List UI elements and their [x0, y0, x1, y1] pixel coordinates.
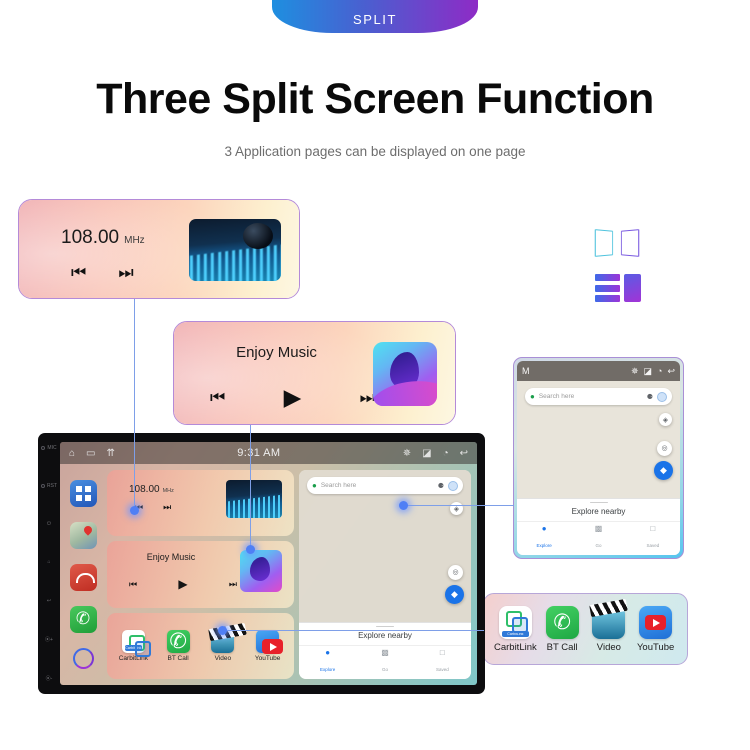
- hu-map-navigate-button[interactable]: ◆: [445, 585, 464, 604]
- head-unit-bezel: MIC RST ⏻ ⌂ ↩ ⦿+ ⦿-: [38, 433, 60, 694]
- youtube-icon: [256, 630, 279, 653]
- explore-nearby-label[interactable]: Explore nearby: [517, 503, 680, 521]
- hu-music-prev-icon[interactable]: ⏮: [129, 579, 137, 590]
- hu-radio-controls: ⏮ ⏭: [135, 502, 171, 513]
- hu-music-play-icon[interactable]: ▶: [178, 577, 187, 591]
- hu-map-nav-saved[interactable]: □ Saved: [414, 648, 471, 676]
- bezel-volume-down-button[interactable]: ⦿-: [46, 675, 53, 682]
- bezel-mic: MIC: [41, 445, 56, 451]
- music-card[interactable]: Enjoy Music ⏮ ▶ ⏭: [173, 321, 456, 425]
- status-time: 9:31 AM: [237, 447, 280, 459]
- split-tab[interactable]: SPLIT: [272, 0, 478, 33]
- app-youtube[interactable]: YouTube: [634, 606, 678, 653]
- location-pin-icon: ●: [312, 481, 317, 490]
- recents-icon[interactable]: ▭: [86, 448, 95, 459]
- split-layout-panel: [624, 274, 641, 302]
- microphone-icon[interactable]: ⚈: [438, 482, 444, 490]
- avatar[interactable]: [448, 481, 458, 491]
- bluetooth-icon: ✵: [403, 448, 411, 459]
- hu-app-youtube-label: YouTube: [251, 655, 285, 662]
- wifi-icon: ◔: [443, 448, 449, 459]
- explore-icon: ●: [517, 524, 571, 534]
- dock-maps-icon[interactable]: [70, 522, 97, 549]
- hu-map-nav-go[interactable]: ▩ Go: [356, 648, 413, 676]
- page-subtitle: 3 Application pages can be displayed on …: [0, 144, 750, 159]
- map-nav-explore[interactable]: ● Explore: [517, 524, 571, 552]
- map-search-placeholder: Search here: [539, 393, 643, 400]
- map-status-bar: M ✵ ◪ ◔ ↩: [517, 361, 680, 381]
- hu-map-search-bar[interactable]: ● Search here ⚈: [307, 477, 463, 494]
- music-title: Enjoy Music: [174, 344, 379, 361]
- map-nav-go[interactable]: ▩ Go: [571, 524, 625, 552]
- map-bottom-sheet: Explore nearby ● Explore ▩ Go □ Saved: [517, 498, 680, 556]
- phone-icon: [546, 606, 579, 639]
- app-bt-call[interactable]: BT Call: [540, 606, 584, 653]
- hu-map-layers-button[interactable]: ◈: [450, 502, 463, 515]
- head-unit-device: MIC RST ⏻ ⌂ ↩ ⦿+ ⦿- ⌂ ▭ ⇈ 9:31 AM ✵ ◪ ◔ …: [38, 433, 485, 694]
- location-pin-icon: ●: [530, 392, 535, 401]
- bezel-volume-up-button[interactable]: ⦿+: [45, 636, 53, 643]
- radio-card[interactable]: 108.00MHz ⏮ ⏭: [18, 199, 300, 299]
- up-chevron-icon[interactable]: ⇈: [107, 448, 115, 459]
- map-status-left-text: M: [522, 366, 626, 376]
- bezel-power-button[interactable]: ⏻: [47, 521, 51, 527]
- hu-music-card[interactable]: Enjoy Music ⏮ ▶ ⏭: [107, 541, 294, 607]
- youtube-icon: [639, 606, 672, 639]
- radio-frequency: 108.00MHz: [61, 227, 145, 249]
- apps-card[interactable]: CarbitLink CarbitLink BT Call Video YouT…: [483, 593, 688, 665]
- connector-apps: [222, 630, 484, 631]
- radio-frequency-value: 108.00: [61, 227, 119, 248]
- app-youtube-label: YouTube: [634, 642, 678, 653]
- saved-icon: □: [626, 524, 680, 534]
- dock-phone-icon[interactable]: [70, 606, 97, 633]
- map-search-bar[interactable]: ● Search here ⚈: [525, 388, 672, 405]
- connector-node-radio: [130, 506, 139, 515]
- cast-icon: ◪: [422, 448, 431, 459]
- connector-node-map: [399, 501, 408, 510]
- hu-app-bt-call[interactable]: BT Call: [161, 630, 195, 662]
- back-icon[interactable]: ↩: [667, 366, 675, 377]
- dual-pane-left: [595, 229, 613, 257]
- dock-ring-icon[interactable]: [73, 648, 94, 669]
- head-unit-body: 108.00MHz ⏮ ⏭ Enjoy Music ⏮ ▶ ⏭: [60, 464, 477, 685]
- avatar[interactable]: [657, 392, 667, 402]
- explore-icon: ●: [299, 648, 356, 658]
- bluetooth-icon: ✵: [631, 366, 639, 377]
- hu-app-video-label: Video: [206, 655, 240, 662]
- carbitlink-icon: CarbitLink: [499, 606, 532, 639]
- hu-music-controls: ⏮ ▶ ⏭: [129, 577, 237, 591]
- app-carbitlink[interactable]: CarbitLink CarbitLink: [493, 606, 537, 653]
- hu-map-panel[interactable]: ● Search here ⚈ ◈ ◎ ◆ Explore nearby ●: [299, 470, 471, 679]
- hu-app-bt-call-label: BT Call: [161, 655, 195, 662]
- radio-album-art: [189, 219, 281, 281]
- connector-music: [250, 425, 251, 549]
- bezel-rst[interactable]: RST: [41, 483, 57, 489]
- music-album-art: [373, 342, 437, 406]
- dock-apps-grid-icon[interactable]: [70, 480, 97, 507]
- map-canvas[interactable]: ● Search here ⚈ ◈ ◎ ◆: [517, 381, 680, 498]
- connector-map: [404, 505, 514, 506]
- music-play-icon[interactable]: ▶: [284, 384, 302, 411]
- hu-app-youtube[interactable]: YouTube: [251, 630, 285, 662]
- app-video-label: Video: [587, 642, 631, 653]
- head-unit-dock: [64, 470, 102, 679]
- hu-app-carbitlink[interactable]: CarbitLink CarbitLink: [116, 630, 150, 662]
- map-nav-explore-label: Explore: [537, 543, 552, 548]
- back-icon[interactable]: ↩: [460, 448, 468, 459]
- hu-map-nav-saved-label: Saved: [436, 667, 449, 672]
- connector-radio: [134, 299, 135, 510]
- dual-pane-right: [621, 229, 639, 257]
- go-icon: ▩: [571, 524, 625, 534]
- map-layers-button[interactable]: ◈: [659, 413, 672, 426]
- music-controls: ⏮ ▶ ⏭: [210, 384, 375, 411]
- map-nav-saved-label: Saved: [646, 543, 659, 548]
- cast-icon: ◪: [644, 366, 653, 377]
- saved-icon: □: [414, 648, 471, 658]
- app-bt-call-label: BT Call: [540, 642, 584, 653]
- head-unit-status-bar: ⌂ ▭ ⇈ 9:31 AM ✵ ◪ ◔ ↩: [60, 442, 477, 464]
- page-title: Three Split Screen Function: [0, 75, 750, 124]
- map-bottom-nav: ● Explore ▩ Go □ Saved: [517, 521, 680, 555]
- home-icon[interactable]: ⌂: [69, 448, 75, 459]
- video-icon: [592, 606, 625, 639]
- map-nav-go-label: Go: [595, 543, 601, 548]
- radio-next-icon[interactable]: ⏭: [118, 263, 133, 283]
- hu-map-canvas[interactable]: ● Search here ⚈ ◈ ◎ ◆: [299, 470, 471, 622]
- map-navigate-button[interactable]: ◆: [654, 461, 673, 480]
- go-icon: ▩: [356, 648, 413, 658]
- hu-apps-card[interactable]: CarbitLink CarbitLink BT Call Video YouT…: [107, 613, 294, 679]
- hu-map-bottom-nav: ● Explore ▩ Go □ Saved: [299, 645, 471, 679]
- hu-music-album-art: [240, 550, 282, 592]
- carbitlink-icon: CarbitLink: [122, 630, 145, 653]
- map-locate-button[interactable]: ◎: [657, 441, 672, 456]
- app-video[interactable]: Video: [587, 606, 631, 653]
- wifi-icon: ◔: [657, 366, 662, 376]
- connector-node-music: [246, 545, 255, 554]
- phone-icon: [167, 630, 190, 653]
- split-layout-bars: [595, 274, 620, 302]
- microphone-icon[interactable]: ⚈: [647, 393, 653, 401]
- map-card[interactable]: M ✵ ◪ ◔ ↩ ● Search here ⚈ ◈ ◎ ◆ Explore …: [513, 357, 684, 559]
- split-tab-label: SPLIT: [353, 12, 397, 33]
- music-prev-icon[interactable]: ⏮: [210, 388, 225, 408]
- hu-radio-frequency: 108.00MHz: [129, 484, 174, 495]
- dock-music-icon[interactable]: [70, 564, 97, 591]
- hu-map-locate-button[interactable]: ◎: [448, 565, 463, 580]
- hu-radio-album-art: [226, 480, 282, 518]
- hu-map-nav-go-label: Go: [382, 667, 388, 672]
- hu-map-nav-explore[interactable]: ● Explore: [299, 648, 356, 676]
- hu-map-nav-explore-label: Explore: [320, 667, 335, 672]
- hu-music-title: Enjoy Music: [107, 552, 235, 562]
- app-carbitlink-label: CarbitLink: [493, 642, 537, 653]
- split-layout-icon: [595, 274, 641, 302]
- radio-prev-icon[interactable]: ⏮: [71, 263, 86, 283]
- head-unit-screen: ⌂ ▭ ⇈ 9:31 AM ✵ ◪ ◔ ↩ 108.00MHz: [60, 442, 477, 685]
- carbitlink-tag: CarbitLink: [502, 631, 529, 637]
- bezel-back-button[interactable]: ↩: [47, 598, 51, 604]
- radio-controls: ⏮ ⏭: [71, 263, 134, 283]
- map-nav-saved[interactable]: □ Saved: [626, 524, 680, 552]
- hu-map-search-placeholder: Search here: [321, 482, 434, 489]
- hu-radio-next-icon[interactable]: ⏭: [163, 502, 171, 513]
- map-body: M ✵ ◪ ◔ ↩ ● Search here ⚈ ◈ ◎ ◆ Explore …: [517, 361, 680, 555]
- radio-frequency-unit: MHz: [124, 235, 145, 246]
- hu-music-next-icon[interactable]: ⏭: [229, 579, 237, 590]
- bezel-home-button[interactable]: ⌂: [47, 559, 50, 565]
- dual-pane-icon: [595, 230, 639, 258]
- connector-node-apps: [218, 626, 227, 635]
